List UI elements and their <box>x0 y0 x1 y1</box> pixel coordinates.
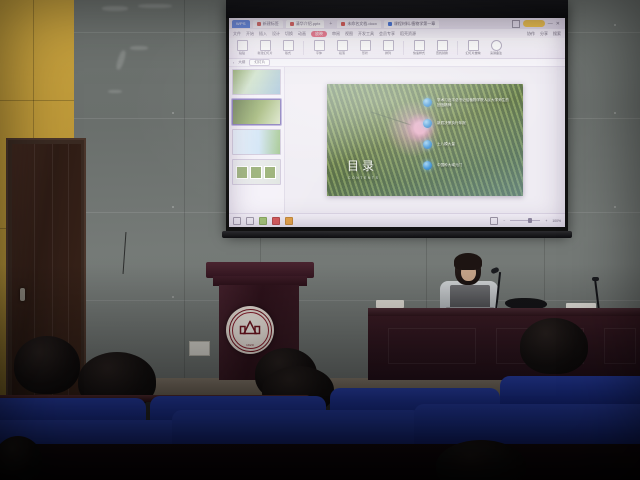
gooseneck-microphone-right-head <box>592 277 599 281</box>
menu-design[interactable]: 设计 <box>272 31 280 37</box>
slide-thumb-1[interactable]: 1 <box>232 69 281 95</box>
fit-icon[interactable] <box>490 217 498 225</box>
audience-head-1 <box>14 336 80 394</box>
outline-label[interactable]: 大纲 <box>238 60 245 65</box>
university-emblem: 1920 <box>226 306 274 354</box>
slideshow-icon <box>468 40 479 51</box>
presenter-hair <box>454 253 482 270</box>
bullet-circle-icon-1 <box>423 98 432 107</box>
toc-item-4-label: 中国种大域元门 <box>437 163 462 168</box>
bullet-circle-icon-4 <box>423 161 432 170</box>
slide-thumb-3[interactable]: 3 <box>232 129 281 155</box>
menu-animation[interactable]: 动画 <box>298 31 306 37</box>
menu-collab[interactable]: 协作 <box>527 31 535 37</box>
app-menubar[interactable]: 文件 开始 插入 设计 切换 动画 放映 审阅 视图 开发工具 会员专享 稻壳资… <box>229 29 565 38</box>
ribbon-divider-3 <box>457 41 458 55</box>
ribbon-quickstyle-label: 快速样式 <box>413 52 425 55</box>
audience-head-5 <box>520 318 588 374</box>
tab-icon-docx <box>341 22 345 26</box>
bullet-circle-icon-3 <box>423 140 432 149</box>
seat-row2-shadow <box>0 444 640 480</box>
ribbon-divider-2 <box>403 41 404 55</box>
tab-docx2[interactable]: 课程材料-植物学第一章 <box>384 20 439 28</box>
slide-chip[interactable]: 幻灯片 <box>249 59 270 66</box>
layout-icon <box>283 40 294 51</box>
ribbon-slideshow[interactable]: 幻灯片放映 <box>464 40 482 55</box>
ribbon-shape-label: 形状 <box>362 52 368 55</box>
font-icon <box>314 40 325 51</box>
ribbon-layout-label: 版式 <box>285 52 291 55</box>
bullet-circle-icon-2 <box>423 119 432 128</box>
notes-icon <box>491 40 502 51</box>
ribbon-new-slide[interactable]: 新建幻灯片 <box>256 40 274 55</box>
outline-command-bar[interactable]: ‹ 大纲 幻灯片 <box>229 59 565 67</box>
clipboard-icon <box>237 40 248 51</box>
lecture-hall-scene: WPS 新建标签 清华介绍.pptx + 未命名文档.docx 课程材料-植物学… <box>0 0 640 480</box>
toc-item-2-label: 新辰决策执行年报 <box>437 121 466 126</box>
upgrade-pill-button[interactable] <box>523 20 545 27</box>
toc-item-3: 土八模大量 <box>423 140 511 149</box>
slide-canvas-pane[interactable]: 目录 CONTENTS 学术习近平总书记给植物学院人民大学师生的回信精神 新辰决… <box>285 67 565 213</box>
menu-member[interactable]: 会员专享 <box>379 31 395 37</box>
ribbon-find[interactable]: 查找替换 <box>433 40 451 55</box>
menu-search[interactable]: 搜索 <box>553 31 561 37</box>
menu-review[interactable]: 审阅 <box>332 31 340 37</box>
projected-desktop: WPS 新建标签 清华介绍.pptx + 未命名文档.docx 课程材料-植物学… <box>229 18 565 227</box>
app-badge[interactable]: WPS <box>232 20 250 28</box>
ribbon-shape[interactable]: 形状 <box>356 40 374 55</box>
tab-home[interactable]: 新建标签 <box>253 20 283 28</box>
ribbon-font-label: 字体 <box>316 52 322 55</box>
presenter-table-front <box>368 316 640 380</box>
window-controls[interactable]: — ✕ <box>512 20 562 28</box>
slide-thumb-2[interactable]: 2 <box>232 99 281 125</box>
ribbon-notes[interactable]: 演讲备注 <box>487 40 505 55</box>
emblem-year: 1920 <box>246 343 254 347</box>
tab-icon-docx2 <box>388 22 392 26</box>
editor-workspace: 1 2 3 <box>229 67 565 213</box>
collapse-pane-icon[interactable]: ‹ <box>233 61 234 65</box>
menu-home[interactable]: 开始 <box>246 31 254 37</box>
style-icon <box>414 40 425 51</box>
sort-icon[interactable] <box>246 217 254 225</box>
door-handle-icon[interactable] <box>20 288 25 301</box>
menu-developer[interactable]: 开发工具 <box>358 31 374 37</box>
tab-icon-pptx <box>290 22 294 26</box>
current-slide[interactable]: 目录 CONTENTS 学术习近平总书记给植物学院人民大学师生的回信精神 新辰决… <box>327 84 523 196</box>
grid-view-icon[interactable] <box>233 217 241 225</box>
tab-pptx[interactable]: 清华介绍.pptx <box>286 20 325 28</box>
ribbon-find-label: 查找替换 <box>436 52 448 55</box>
ribbon-layout[interactable]: 版式 <box>279 40 297 55</box>
ribbon-quickstyle[interactable]: 快速样式 <box>410 40 428 55</box>
menu-transition[interactable]: 切换 <box>285 31 293 37</box>
ribbon-new-slide-label: 新建幻灯片 <box>257 52 272 55</box>
minimize-icon[interactable]: — <box>548 21 553 27</box>
menu-share[interactable]: 分享 <box>540 31 548 37</box>
presenter-laptop <box>450 285 490 309</box>
zoom-slider[interactable] <box>510 220 540 221</box>
screen-bottom-bar <box>222 231 572 238</box>
paragraph-icon <box>337 40 348 51</box>
ribbon-paragraph-label: 段落 <box>339 52 345 55</box>
toc-item-1-label: 学术习近平总书记给植物学院人民大学师生的回信精神 <box>437 98 511 107</box>
toc-item-2: 新辰决策执行年报 <box>423 119 511 128</box>
zoom-out-icon[interactable]: − <box>503 219 505 223</box>
app-status-bar[interactable]: − + 100% <box>229 213 565 227</box>
table-paper-left <box>376 300 404 308</box>
slide-thumbnail-pane[interactable]: 1 2 3 <box>229 67 285 213</box>
tab-docx2-label: 课程材料-植物学第一章 <box>394 20 435 28</box>
slideshow-icon-status[interactable] <box>272 217 280 225</box>
toc-item-3-label: 土八模大量 <box>437 142 455 147</box>
new-slide-icon <box>260 40 271 51</box>
menu-insert[interactable]: 插入 <box>259 31 267 37</box>
seat-row2-c <box>414 404 640 448</box>
menu-slideshow[interactable]: 放映 <box>311 31 327 37</box>
menu-view[interactable]: 视图 <box>345 31 353 37</box>
reading-view-icon[interactable] <box>259 217 267 225</box>
ribbon-font[interactable]: 字体 <box>310 40 328 55</box>
projection-screen: WPS 新建标签 清华介绍.pptx + 未命名文档.docx 课程材料-植物学… <box>226 0 568 234</box>
ribbon-paste[interactable]: 粘贴 <box>233 40 251 55</box>
close-icon[interactable]: ✕ <box>556 21 560 27</box>
tab-icon-home <box>257 22 261 26</box>
find-icon <box>437 40 448 51</box>
tab-docx-label: 未命名文档.docx <box>347 20 377 28</box>
zoom-value[interactable]: 100% <box>552 219 561 223</box>
slide-title-cn: 目录 <box>347 157 377 174</box>
zoom-slider-knob[interactable] <box>528 218 532 223</box>
new-tab-button[interactable]: + <box>327 21 334 27</box>
ribbon-slideshow-label: 幻灯片放映 <box>465 52 480 55</box>
shape-icon <box>360 40 371 51</box>
restore-icon[interactable] <box>512 20 520 28</box>
notes-icon-status[interactable] <box>285 217 293 225</box>
toc-item-1: 学术习近平总书记给植物学院人民大学师生的回信精神 <box>423 98 511 107</box>
slide-thumb-4[interactable]: 4 <box>232 159 281 185</box>
emblem-mountain-mark <box>240 321 261 336</box>
menu-resource[interactable]: 稻壳资源 <box>400 31 416 37</box>
toc-item-4: 中国种大域元门 <box>423 161 511 170</box>
slide-toc-list: 学术习近平总书记给植物学院人民大学师生的回信精神 新辰决策执行年报 土八模大量 <box>423 98 511 170</box>
ribbon-notes-label: 演讲备注 <box>490 52 502 55</box>
ribbon-arrange[interactable]: 排列 <box>379 40 397 55</box>
screen-top-rail <box>226 0 568 18</box>
tab-home-label: 新建标签 <box>263 20 279 28</box>
slide-title-en: CONTENTS <box>348 176 379 180</box>
ribbon-paste-label: 粘贴 <box>239 52 245 55</box>
menu-file[interactable]: 文件 <box>233 31 241 37</box>
ribbon-divider <box>303 41 304 55</box>
app-titlebar: WPS 新建标签 清华介绍.pptx + 未命名文档.docx 课程材料-植物学… <box>229 18 565 29</box>
tab-pptx-label: 清华介绍.pptx <box>296 20 321 28</box>
tab-docx[interactable]: 未命名文档.docx <box>337 20 381 28</box>
zoom-in-icon[interactable]: + <box>545 219 547 223</box>
wall-outlet <box>189 341 210 356</box>
ribbon-paragraph[interactable]: 段落 <box>333 40 351 55</box>
arrange-icon <box>383 40 394 51</box>
app-ribbon[interactable]: 粘贴 新建幻灯片 版式 字体 段落 <box>229 38 565 59</box>
ribbon-arrange-label: 排列 <box>385 52 391 55</box>
